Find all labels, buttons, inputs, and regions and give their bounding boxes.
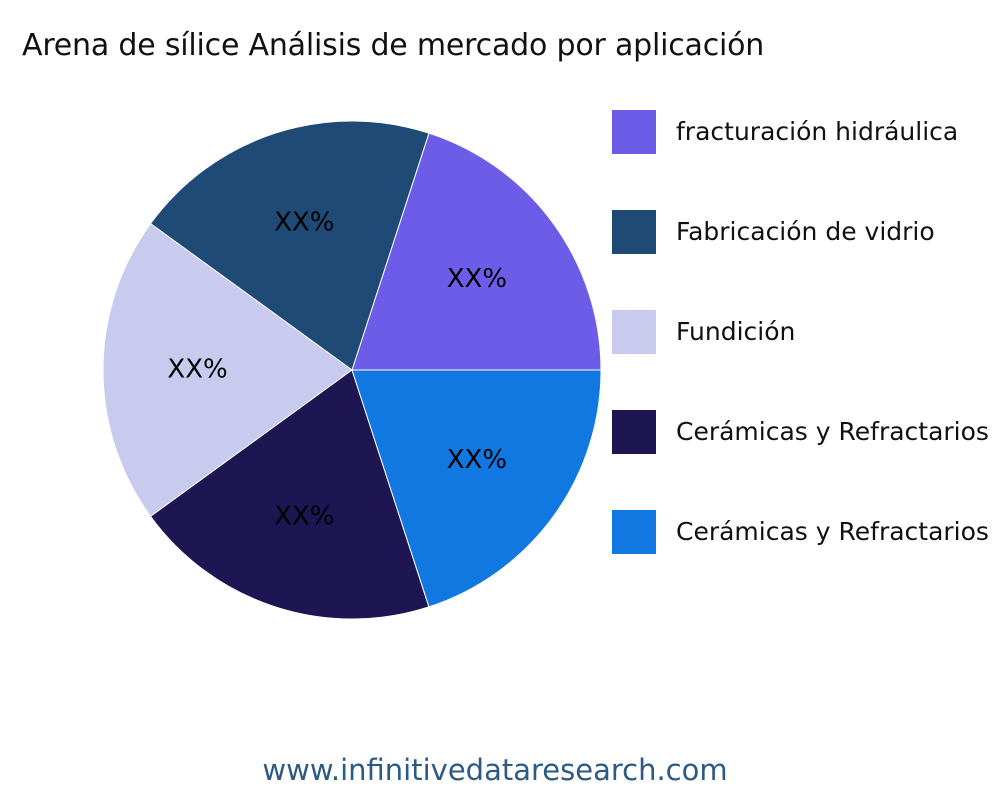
legend-color-swatch [612,110,656,154]
legend-color-swatch [612,410,656,454]
pie-slice-label: XX% [167,355,227,385]
legend: fracturación hidráulicaFabricación de vi… [612,110,1000,580]
legend-item[interactable]: Cerámicas y Refractarios [612,510,989,554]
pie-chart: XX%XX%XX%XX%XX% [0,0,620,700]
legend-item-label: Fabricación de vidrio [676,217,935,247]
legend-color-swatch [612,510,656,554]
legend-item-label: Fundición [676,317,795,347]
pie-slice-label: XX% [274,208,334,238]
legend-color-swatch [612,310,656,354]
legend-color-swatch [612,210,656,254]
chart-page: Arena de sílice Análisis de mercado por … [0,0,1000,800]
legend-item-label: Cerámicas y Refractarios [676,517,989,547]
pie-chart-svg: XX%XX%XX%XX%XX% [0,0,620,700]
legend-item-label: Cerámicas y Refractarios [676,417,989,447]
pie-slice-label: XX% [447,445,507,475]
legend-item[interactable]: Cerámicas y Refractarios [612,410,989,454]
legend-item[interactable]: fracturación hidráulica [612,110,958,154]
legend-item[interactable]: Fabricación de vidrio [612,210,935,254]
pie-slice-label: XX% [274,501,334,531]
legend-item[interactable]: Fundición [612,310,795,354]
pie-slice-label: XX% [447,264,507,294]
legend-item-label: fracturación hidráulica [676,117,958,147]
footer-url: www.infinitivedataresearch.com [0,752,1000,788]
